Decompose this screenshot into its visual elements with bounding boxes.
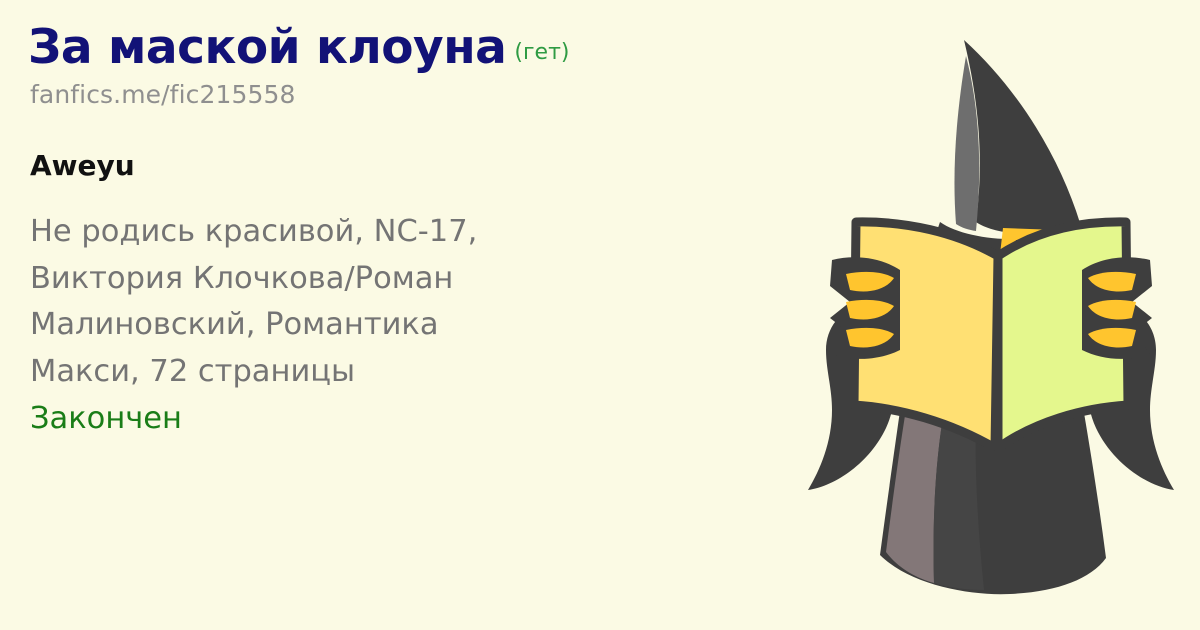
story-meta-block: Не родись красивой, NC-17, Виктория Клоч… bbox=[30, 209, 748, 442]
meta-line: Макси, 72 страницы bbox=[30, 349, 748, 396]
left-hand-claws bbox=[830, 257, 900, 359]
meta-line: Малиновский, Романтика bbox=[30, 302, 748, 349]
page-title: За маской клоуна bbox=[28, 20, 506, 75]
title-line: За маской клоуна(гет) bbox=[28, 24, 748, 72]
author-name[interactable]: Aweyu bbox=[30, 149, 748, 182]
story-text-column: За маской клоуна(гет) fanfics.me/fic2155… bbox=[28, 24, 748, 442]
right-hand-claws bbox=[1082, 257, 1152, 359]
story-card: За маской клоуна(гет) fanfics.me/fic2155… bbox=[0, 0, 1200, 630]
witch-reading-book-svg bbox=[770, 10, 1190, 620]
story-category-badge: (гет) bbox=[514, 40, 569, 65]
story-url[interactable]: fanfics.me/fic215558 bbox=[30, 80, 748, 109]
status-badge: Закончен bbox=[30, 396, 748, 443]
meta-line: Виктория Клочкова/Роман bbox=[30, 256, 748, 303]
hat-cone-shape bbox=[964, 40, 1080, 234]
witch-reading-book-illustration bbox=[770, 10, 1190, 620]
meta-line: Не родись красивой, NC-17, bbox=[30, 209, 748, 256]
